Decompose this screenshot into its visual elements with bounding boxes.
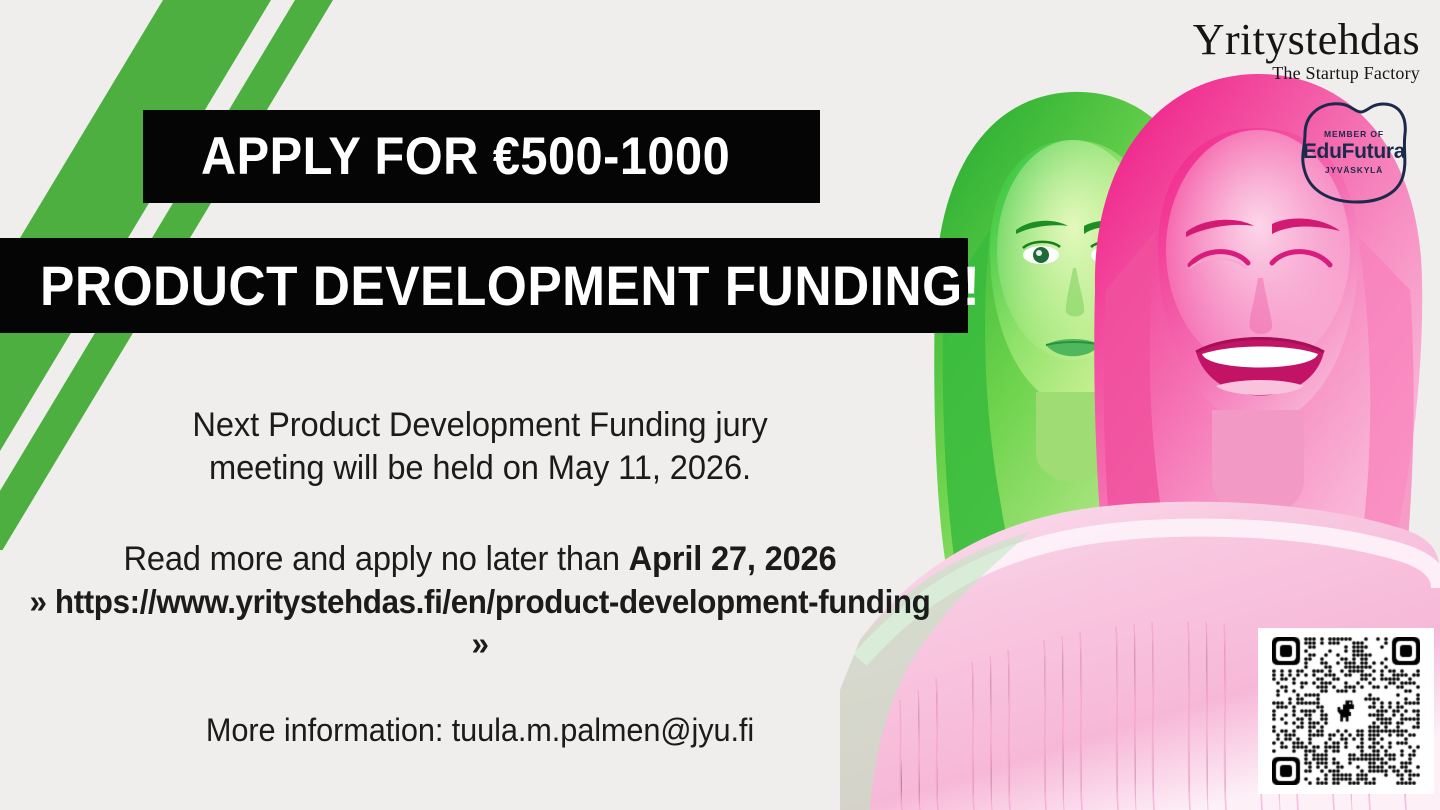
badge-shield-icon <box>1295 98 1413 206</box>
contact-line[interactable]: More information: tuula.m.palmen@jyu.fi <box>19 712 941 749</box>
edufutura-member-badge: MEMBER OF EduFutura JYVÄSKYLÄ <box>1295 98 1413 206</box>
headline-product-text: PRODUCT DEVELOPMENT FUNDING! <box>40 258 980 314</box>
read-more-prefix: Read more and apply no later than <box>124 540 629 578</box>
logo-wordmark: Yritystehdas <box>1193 18 1420 63</box>
headline-apply-text: APPLY FOR €500-1000 <box>201 130 730 183</box>
yritystehdas-logo: Yritystehdas The Startup Factory <box>1193 18 1420 84</box>
qr-code-canvas[interactable] <box>1272 637 1420 785</box>
poster-canvas: APPLY FOR €500-1000 PRODUCT DEVELOPMENT … <box>0 0 1440 810</box>
headline-bar-product: PRODUCT DEVELOPMENT FUNDING! <box>0 238 968 333</box>
headline-bar-apply: APPLY FOR €500-1000 <box>143 110 820 203</box>
jury-line-2: meeting will be held on May 11, 2026. <box>19 447 941 490</box>
application-deadline: April 27, 2026 <box>629 540 837 578</box>
qr-code[interactable] <box>1258 628 1434 794</box>
logo-tagline: The Startup Factory <box>1193 64 1420 84</box>
jury-line-1: Next Product Development Funding jury <box>19 404 941 447</box>
read-more-line: Read more and apply no later than April … <box>19 538 941 582</box>
application-url[interactable]: » https://www.yritystehdas.fi/en/product… <box>24 581 936 665</box>
body-copy: Next Product Development Funding jury me… <box>0 404 960 749</box>
jury-meeting-paragraph: Next Product Development Funding jury me… <box>19 404 941 490</box>
